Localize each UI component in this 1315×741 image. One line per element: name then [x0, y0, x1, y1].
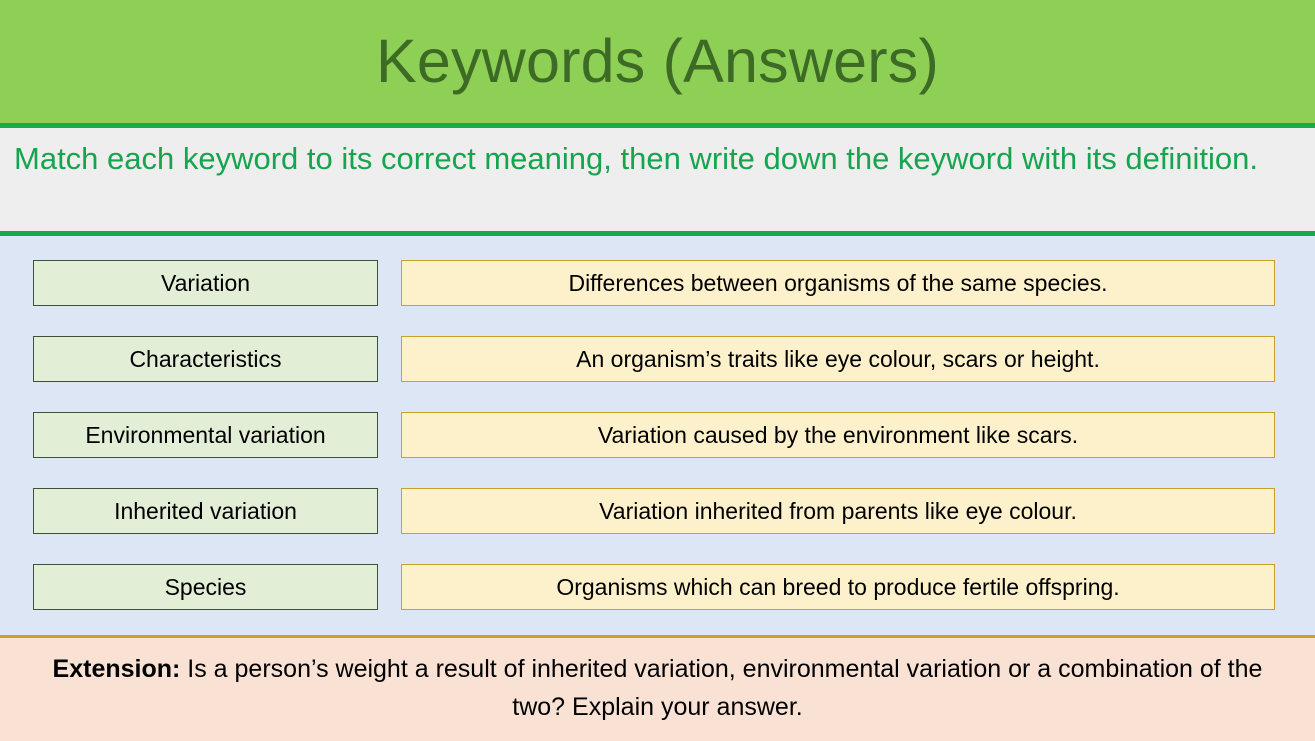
keyword-box[interactable]: Characteristics	[33, 336, 378, 382]
definition-box[interactable]: An organism’s traits like eye colour, sc…	[401, 336, 1275, 382]
definition-box[interactable]: Organisms which can breed to produce fer…	[401, 564, 1275, 610]
page-title: Keywords (Answers)	[376, 31, 939, 92]
definition-label: Differences between organisms of the sam…	[568, 272, 1107, 295]
keyword-label: Inherited variation	[114, 500, 297, 523]
keyword-label: Characteristics	[129, 348, 281, 371]
instruction-text: Match each keyword to its correct meanin…	[14, 136, 1301, 182]
keyword-box[interactable]: Variation	[33, 260, 378, 306]
match-row: Inherited variation Variation inherited …	[0, 488, 1315, 534]
keyword-label: Environmental variation	[85, 424, 325, 447]
definition-label: Variation inherited from parents like ey…	[599, 500, 1077, 523]
match-row: Species Organisms which can breed to pro…	[0, 564, 1315, 610]
keyword-box[interactable]: Environmental variation	[33, 412, 378, 458]
keyword-label: Species	[165, 576, 247, 599]
definition-label: An organism’s traits like eye colour, sc…	[576, 348, 1100, 371]
keyword-box[interactable]: Species	[33, 564, 378, 610]
definition-label: Variation caused by the environment like…	[598, 424, 1078, 447]
slide: Keywords (Answers) Match each keyword to…	[0, 0, 1315, 741]
extension-question: Is a person’s weight a result of inherit…	[180, 655, 1262, 722]
definition-box[interactable]: Differences between organisms of the sam…	[401, 260, 1275, 306]
extension-label: Extension:	[53, 655, 181, 683]
definition-box[interactable]: Variation caused by the environment like…	[401, 412, 1275, 458]
extension-text: Extension: Is a person’s weight a result…	[30, 650, 1285, 728]
keyword-label: Variation	[161, 272, 250, 295]
match-row: Environmental variation Variation caused…	[0, 412, 1315, 458]
header-banner: Keywords (Answers)	[0, 0, 1315, 128]
definition-box[interactable]: Variation inherited from parents like ey…	[401, 488, 1275, 534]
extension-footer: Extension: Is a person’s weight a result…	[0, 635, 1315, 741]
instruction-band: Match each keyword to its correct meanin…	[0, 128, 1315, 236]
keyword-box[interactable]: Inherited variation	[33, 488, 378, 534]
match-row: Characteristics An organism’s traits lik…	[0, 336, 1315, 382]
match-row: Variation Differences between organisms …	[0, 260, 1315, 306]
matching-activity: Variation Differences between organisms …	[0, 236, 1315, 635]
definition-label: Organisms which can breed to produce fer…	[556, 576, 1119, 599]
